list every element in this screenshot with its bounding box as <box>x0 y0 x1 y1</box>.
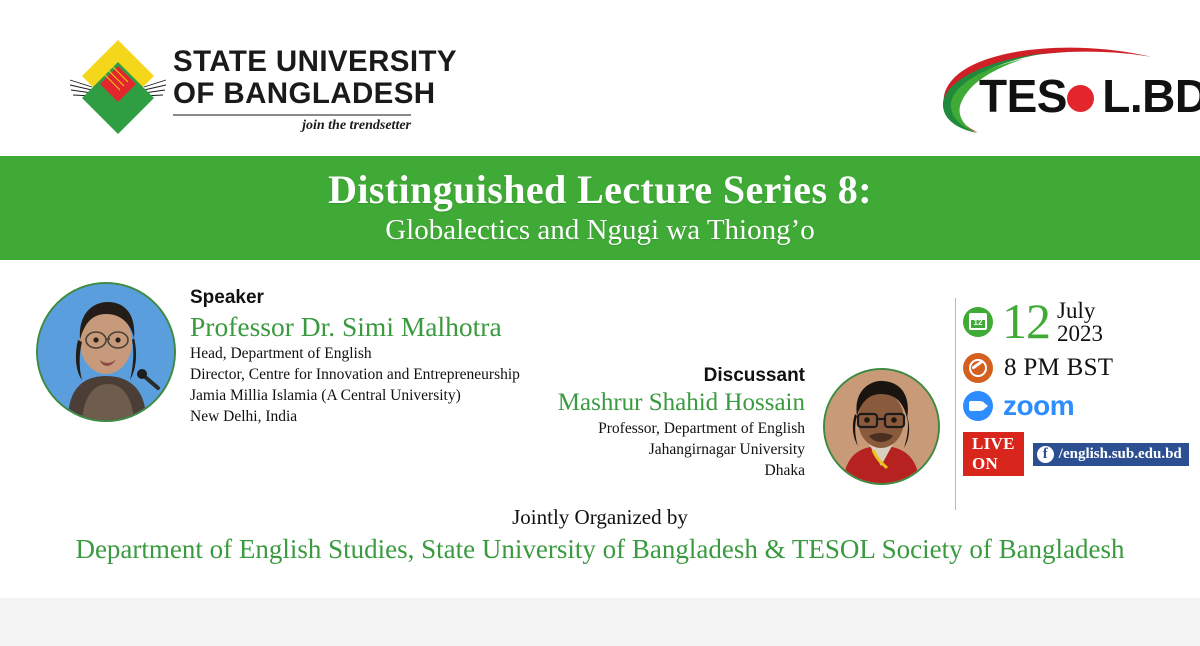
facebook-page-badge[interactable]: f /english.sub.edu.bd <box>1033 443 1189 466</box>
poster-footer-band <box>0 598 1200 646</box>
live-on-badge: LIVE ON <box>963 432 1024 476</box>
sub-logo-tagline: join the trendsetter <box>173 118 411 134</box>
event-time: 8 PM BST <box>1004 354 1113 382</box>
clock-icon <box>963 353 993 383</box>
discussant-role-label: Discussant <box>430 364 805 387</box>
sub-logo-divider <box>173 114 411 117</box>
sub-logo-line1: STATE UNIVERSITY <box>173 46 418 78</box>
discussant-portrait-illustration <box>825 370 938 483</box>
zoom-wordmark: zoom <box>1003 390 1074 422</box>
lecture-series-title: Distinguished Lecture Series 8: <box>328 169 872 211</box>
calendar-icon-day: 12 <box>971 319 985 327</box>
organizer-section: Jointly Organized by Department of Engli… <box>0 505 1200 567</box>
event-date-row: 12 12 July 2023 <box>963 298 1188 346</box>
tesol-red-dot-icon <box>1067 85 1094 112</box>
event-time-row: 8 PM BST <box>963 353 1188 383</box>
organizer-prefix: Jointly Organized by <box>0 505 1200 530</box>
organizer-names: Department of English Studies, State Uni… <box>0 533 1200 567</box>
event-poster: STATE UNIVERSITY OF BANGLADESH join the … <box>0 0 1200 646</box>
sub-logo-line2: OF BANGLADESH <box>173 78 418 110</box>
sub-diamond-emblem-icon <box>68 32 168 142</box>
video-camera-icon <box>963 391 993 421</box>
event-info-panel: 12 12 July 2023 8 PM BST <box>963 298 1188 476</box>
facebook-icon: f <box>1037 446 1054 463</box>
event-platform-row[interactable]: zoom <box>963 390 1188 422</box>
state-university-of-bangladesh-logo: STATE UNIVERSITY OF BANGLADESH join the … <box>68 30 418 145</box>
facebook-handle: /english.sub.edu.bd <box>1059 446 1182 463</box>
discussant-name: Mashrur Shahid Hossain <box>430 388 805 418</box>
speaker-name: Professor Dr. Simi Malhotra <box>190 310 610 343</box>
discussant-detail-line: Jahangirnagar University <box>430 440 805 460</box>
discussant-detail-line: Dhaka <box>430 461 805 481</box>
discussant-avatar <box>823 368 940 485</box>
tesol-bd-logo: TESOL.BD <box>927 45 1172 140</box>
event-month: July <box>1057 299 1103 322</box>
speaker-role-label: Speaker <box>190 286 610 309</box>
lecture-subtitle: Globalectics and Ngugi wa Thiong’o <box>385 213 815 247</box>
poster-body: Speaker Professor Dr. Simi Malhotra Head… <box>0 260 1200 598</box>
calendar-icon: 12 <box>963 307 993 337</box>
poster-header: STATE UNIVERSITY OF BANGLADESH join the … <box>0 0 1200 155</box>
lecture-title-banner: Distinguished Lecture Series 8: Globalec… <box>0 156 1200 260</box>
sub-wordmark: STATE UNIVERSITY OF BANGLADESH join the … <box>173 46 418 134</box>
discussant-detail-line: Professor, Department of English <box>430 419 805 439</box>
event-year: 2023 <box>1057 322 1103 346</box>
info-column-divider <box>955 298 956 510</box>
speaker-detail-line: Head, Department of English <box>190 344 610 364</box>
speaker-portrait-illustration <box>38 284 174 420</box>
discussant-info: Discussant Mashrur Shahid Hossain Profes… <box>430 364 805 481</box>
live-stream-row[interactable]: LIVE ON f /english.sub.edu.bd <box>963 432 1188 476</box>
event-day: 12 <box>1002 298 1050 344</box>
speaker-avatar <box>36 282 176 422</box>
